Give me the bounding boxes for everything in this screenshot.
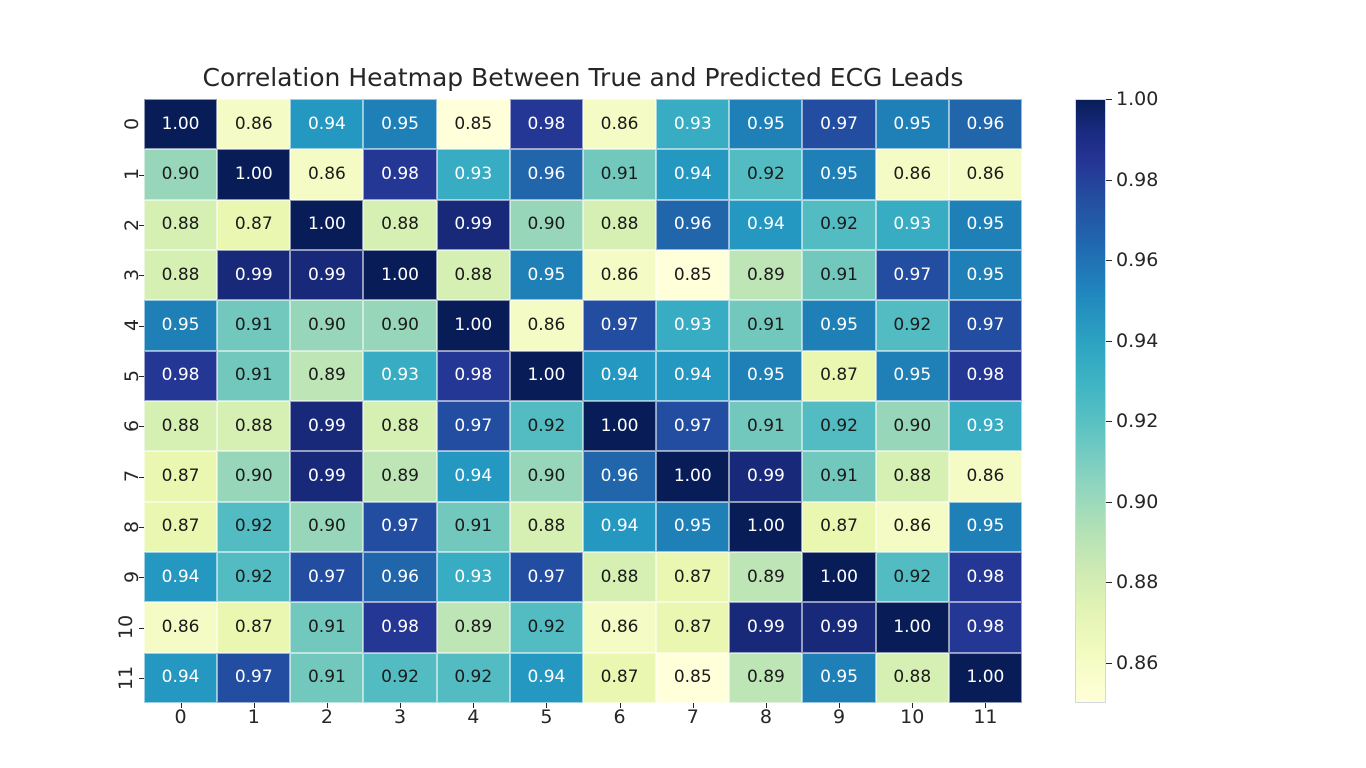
- heatmap-cell: 0.97: [949, 300, 1022, 350]
- colorbar-tick-label: 0.96: [1116, 249, 1158, 271]
- cell-value: 0.90: [235, 468, 273, 485]
- x-axis-tick-labels: 01234567891011: [144, 706, 1022, 734]
- cell-value: 0.97: [454, 418, 492, 435]
- cell-value: 0.93: [454, 166, 492, 183]
- cell-value: 0.87: [674, 619, 712, 636]
- heatmap-cell: 0.94: [583, 502, 656, 552]
- cell-value: 0.99: [308, 418, 346, 435]
- heatmap-cell: 0.86: [949, 451, 1022, 501]
- cell-value: 0.88: [893, 468, 931, 485]
- cell-value: 0.99: [747, 619, 785, 636]
- x-tick-mark: [181, 703, 182, 708]
- x-tick-mark: [546, 703, 547, 708]
- heatmap-cell: 0.95: [729, 351, 802, 401]
- heatmap-cell: 1.00: [363, 250, 436, 300]
- cell-value: 0.98: [162, 367, 200, 384]
- heatmap-cell: 0.85: [656, 653, 729, 703]
- y-tick-label: 4: [108, 300, 138, 350]
- y-tick-label: 8: [108, 502, 138, 552]
- cell-value: 0.88: [893, 669, 931, 686]
- y-tick-mark: [139, 175, 144, 176]
- heatmap-cell: 0.97: [583, 300, 656, 350]
- page-title: Correlation Heatmap Between True and Pre…: [144, 63, 1022, 92]
- y-tick-label: 0: [108, 99, 138, 149]
- heatmap-cell: 0.87: [217, 602, 290, 652]
- cell-value: 0.87: [674, 569, 712, 586]
- cell-value: 0.91: [820, 468, 858, 485]
- heatmap-cell: 0.94: [437, 451, 510, 501]
- heatmap-cell: 0.91: [290, 602, 363, 652]
- cell-value: 0.95: [820, 669, 858, 686]
- heatmap-cell: 0.92: [802, 200, 875, 250]
- heatmap-cell: 0.88: [363, 200, 436, 250]
- y-axis-tick-labels: 01234567891011: [108, 99, 138, 703]
- colorbar-tick-label: 1.00: [1116, 88, 1158, 110]
- cell-value: 0.92: [235, 518, 273, 535]
- heatmap-figure: Correlation Heatmap Between True and Pre…: [0, 0, 1366, 768]
- y-tick-mark: [139, 225, 144, 226]
- cell-value: 0.98: [381, 619, 419, 636]
- heatmap-cell: 0.86: [876, 502, 949, 552]
- cell-value: 0.95: [966, 267, 1004, 284]
- heatmap-cell: 0.90: [510, 200, 583, 250]
- cell-value: 0.98: [454, 367, 492, 384]
- cell-value: 1.00: [966, 669, 1004, 686]
- heatmap-cell: 0.92: [510, 401, 583, 451]
- cell-value: 0.87: [601, 669, 639, 686]
- cell-value: 0.89: [454, 619, 492, 636]
- cell-value: 1.00: [308, 216, 346, 233]
- cell-value: 0.88: [381, 418, 419, 435]
- heatmap-cell: 0.95: [656, 502, 729, 552]
- heatmap-cell: 0.94: [144, 552, 217, 602]
- y-tick-mark: [139, 376, 144, 377]
- heatmap-cell: 1.00: [876, 602, 949, 652]
- cell-value: 0.99: [308, 267, 346, 284]
- x-tick-mark: [254, 703, 255, 708]
- cell-value: 1.00: [747, 518, 785, 535]
- heatmap-cell: 0.94: [510, 653, 583, 703]
- cell-value: 0.95: [893, 116, 931, 133]
- heatmap-cell: 0.85: [437, 99, 510, 149]
- heatmap-cell: 0.88: [583, 200, 656, 250]
- cell-value: 0.99: [235, 267, 273, 284]
- x-tick-label: 8: [729, 706, 802, 734]
- cell-value: 0.94: [674, 367, 712, 384]
- cell-value: 0.87: [162, 518, 200, 535]
- y-tick-label: 10: [108, 602, 138, 652]
- x-tick-mark: [620, 703, 621, 708]
- heatmap-cell: 0.92: [217, 502, 290, 552]
- heatmap-cell: 0.97: [802, 99, 875, 149]
- heatmap-cell: 0.88: [510, 502, 583, 552]
- heatmap-cell: 0.86: [290, 149, 363, 199]
- cell-value: 0.97: [820, 116, 858, 133]
- heatmap-cell: 0.95: [802, 300, 875, 350]
- x-tick-label: 5: [510, 706, 583, 734]
- heatmap-cell: 0.92: [510, 602, 583, 652]
- heatmap-cell: 0.98: [949, 602, 1022, 652]
- heatmap-cell: 0.98: [144, 351, 217, 401]
- cell-value: 0.86: [966, 468, 1004, 485]
- heatmap-cell: 0.92: [876, 300, 949, 350]
- y-tick-label: 5: [108, 351, 138, 401]
- cell-value: 0.97: [893, 267, 931, 284]
- cell-value: 0.92: [820, 418, 858, 435]
- cell-value: 0.89: [381, 468, 419, 485]
- colorbar-tick-mark: [1106, 260, 1112, 261]
- heatmap-cell: 0.87: [656, 602, 729, 652]
- heatmap-cell: 0.86: [876, 149, 949, 199]
- cell-value: 0.95: [820, 166, 858, 183]
- cell-value: 0.91: [235, 317, 273, 334]
- colorbar-tick-mark: [1106, 421, 1112, 422]
- cell-value: 1.00: [527, 367, 565, 384]
- cell-value: 0.89: [747, 267, 785, 284]
- cell-value: 0.87: [820, 367, 858, 384]
- cell-value: 0.90: [381, 317, 419, 334]
- heatmap-cell: 0.88: [876, 451, 949, 501]
- heatmap-cell: 0.87: [144, 502, 217, 552]
- cell-value: 0.94: [674, 166, 712, 183]
- x-tick-mark: [327, 703, 328, 708]
- heatmap-cell: 0.88: [583, 552, 656, 602]
- heatmap-cell: 0.88: [437, 250, 510, 300]
- heatmap-cell: 0.90: [510, 451, 583, 501]
- x-tick-label: 3: [363, 706, 436, 734]
- cell-value: 0.97: [308, 569, 346, 586]
- heatmap-cell: 0.91: [729, 401, 802, 451]
- heatmap-cell: 0.91: [802, 451, 875, 501]
- heatmap-cell: 0.96: [363, 552, 436, 602]
- cell-value: 0.86: [601, 267, 639, 284]
- y-tick-label: 1: [108, 149, 138, 199]
- cell-value: 0.97: [235, 669, 273, 686]
- heatmap-cell: 0.94: [144, 653, 217, 703]
- heatmap-cell: 0.99: [217, 250, 290, 300]
- cell-value: 0.90: [893, 418, 931, 435]
- heatmap-cell: 0.98: [437, 351, 510, 401]
- heatmap-cell: 0.88: [876, 653, 949, 703]
- heatmap-cell: 0.86: [583, 99, 656, 149]
- cell-value: 0.94: [454, 468, 492, 485]
- x-tick-label: 1: [217, 706, 290, 734]
- x-tick-label: 4: [437, 706, 510, 734]
- x-tick-label: 11: [949, 706, 1022, 734]
- x-tick-mark: [912, 703, 913, 708]
- heatmap-cell: 0.86: [217, 99, 290, 149]
- cell-value: 0.97: [527, 569, 565, 586]
- cell-value: 0.89: [747, 669, 785, 686]
- heatmap-cell: 0.98: [510, 99, 583, 149]
- cell-value: 0.91: [820, 267, 858, 284]
- heatmap-cell: 0.94: [729, 200, 802, 250]
- cell-value: 0.98: [527, 116, 565, 133]
- heatmap-cell: 0.99: [437, 200, 510, 250]
- cell-value: 0.85: [454, 116, 492, 133]
- cell-value: 0.95: [820, 317, 858, 334]
- heatmap-cell: 0.98: [363, 602, 436, 652]
- cell-value: 0.90: [527, 468, 565, 485]
- cell-value: 0.95: [527, 267, 565, 284]
- cell-value: 0.93: [893, 216, 931, 233]
- cell-value: 0.95: [966, 518, 1004, 535]
- heatmap-cell: 0.99: [290, 401, 363, 451]
- heatmap-cell: 0.87: [583, 653, 656, 703]
- heatmap-cell: 0.91: [802, 250, 875, 300]
- cell-value: 0.87: [820, 518, 858, 535]
- x-tick-label: 0: [144, 706, 217, 734]
- y-tick-label: 9: [108, 552, 138, 602]
- cell-value: 0.91: [601, 166, 639, 183]
- cell-value: 0.91: [454, 518, 492, 535]
- cell-value: 0.86: [308, 166, 346, 183]
- cell-value: 0.92: [454, 669, 492, 686]
- cell-value: 0.91: [747, 418, 785, 435]
- heatmap-cell: 0.88: [144, 401, 217, 451]
- heatmap-cell: 0.86: [583, 250, 656, 300]
- cell-value: 0.97: [601, 317, 639, 334]
- heatmap-cell: 0.91: [290, 653, 363, 703]
- heatmap-cell: 0.97: [876, 250, 949, 300]
- cell-value: 0.97: [381, 518, 419, 535]
- cell-value: 0.96: [527, 166, 565, 183]
- cell-value: 0.86: [527, 317, 565, 334]
- cell-value: 0.86: [893, 518, 931, 535]
- cell-value: 0.98: [966, 619, 1004, 636]
- heatmap-cell: 1.00: [290, 200, 363, 250]
- heatmap-cell: 0.99: [290, 451, 363, 501]
- cell-value: 0.91: [235, 367, 273, 384]
- cell-value: 0.92: [235, 569, 273, 586]
- heatmap-cell: 0.93: [876, 200, 949, 250]
- heatmap-cell: 0.95: [949, 250, 1022, 300]
- heatmap-cell: 0.99: [802, 602, 875, 652]
- cell-value: 0.94: [162, 669, 200, 686]
- heatmap-cell: 1.00: [949, 653, 1022, 703]
- heatmap-cell: 0.92: [729, 149, 802, 199]
- heatmap-cell: 1.00: [510, 351, 583, 401]
- cell-value: 1.00: [674, 468, 712, 485]
- cell-value: 0.94: [601, 367, 639, 384]
- cell-value: 0.86: [601, 619, 639, 636]
- heatmap-cell: 0.86: [583, 602, 656, 652]
- heatmap-cell: 0.93: [656, 300, 729, 350]
- colorbar-tick-mark: [1106, 582, 1112, 583]
- cell-value: 0.95: [381, 116, 419, 133]
- heatmap-cell: 0.93: [437, 552, 510, 602]
- heatmap-cell: 0.89: [437, 602, 510, 652]
- x-tick-mark: [693, 703, 694, 708]
- heatmap-cell: 0.97: [437, 401, 510, 451]
- cell-value: 0.90: [308, 518, 346, 535]
- heatmap-cell: 0.99: [729, 451, 802, 501]
- y-tick-label: 11: [108, 653, 138, 703]
- y-tick-label: 2: [108, 200, 138, 250]
- cell-value: 1.00: [235, 166, 273, 183]
- cell-value: 0.89: [747, 569, 785, 586]
- colorbar-tick-label: 0.90: [1116, 491, 1158, 513]
- heatmap-cell: 0.95: [363, 99, 436, 149]
- cell-value: 1.00: [601, 418, 639, 435]
- x-tick-mark: [400, 703, 401, 708]
- cell-value: 0.88: [235, 418, 273, 435]
- heatmap-cell: 0.95: [802, 653, 875, 703]
- cell-value: 0.96: [601, 468, 639, 485]
- heatmap-cell: 0.91: [217, 300, 290, 350]
- cell-value: 0.94: [162, 569, 200, 586]
- cell-value: 0.95: [747, 116, 785, 133]
- heatmap-cell: 0.91: [437, 502, 510, 552]
- heatmap-cell: 0.96: [949, 99, 1022, 149]
- heatmap-cell: 0.87: [144, 451, 217, 501]
- x-tick-label: 2: [290, 706, 363, 734]
- cell-value: 0.88: [162, 267, 200, 284]
- heatmap-cell: 0.88: [217, 401, 290, 451]
- cell-value: 0.99: [747, 468, 785, 485]
- cell-value: 1.00: [454, 317, 492, 334]
- cell-value: 0.96: [966, 116, 1004, 133]
- cell-value: 0.88: [162, 216, 200, 233]
- x-tick-label: 10: [876, 706, 949, 734]
- heatmap-cell: 0.94: [656, 149, 729, 199]
- heatmap-cell: 1.00: [144, 99, 217, 149]
- heatmap-cell: 0.90: [876, 401, 949, 451]
- heatmap-cell: 0.94: [583, 351, 656, 401]
- cell-value: 0.87: [235, 619, 273, 636]
- heatmap-cell: 0.97: [217, 653, 290, 703]
- heatmap-cell: 0.90: [290, 300, 363, 350]
- heatmap-cell: 1.00: [802, 552, 875, 602]
- cell-value: 0.86: [601, 116, 639, 133]
- heatmap-cell: 0.87: [802, 351, 875, 401]
- y-tick-mark: [139, 275, 144, 276]
- cell-value: 0.99: [820, 619, 858, 636]
- cell-value: 0.86: [966, 166, 1004, 183]
- heatmap-cell: 0.91: [583, 149, 656, 199]
- cell-value: 0.94: [527, 669, 565, 686]
- colorbar-tick-mark: [1106, 663, 1112, 664]
- cell-value: 0.93: [674, 116, 712, 133]
- heatmap-cell: 0.96: [583, 451, 656, 501]
- heatmap-cell: 0.93: [949, 401, 1022, 451]
- heatmap-cell: 0.98: [949, 552, 1022, 602]
- y-tick-mark: [139, 678, 144, 679]
- cell-value: 0.99: [454, 216, 492, 233]
- cell-value: 0.86: [162, 619, 200, 636]
- cell-value: 0.97: [674, 418, 712, 435]
- heatmap-cell: 0.94: [656, 351, 729, 401]
- heatmap-cell: 0.89: [729, 653, 802, 703]
- heatmap-cell: 1.00: [217, 149, 290, 199]
- heatmap-cell: 0.94: [290, 99, 363, 149]
- cell-value: 1.00: [381, 267, 419, 284]
- heatmap-cell: 0.92: [876, 552, 949, 602]
- cell-value: 0.88: [381, 216, 419, 233]
- x-tick-mark: [985, 703, 986, 708]
- colorbar-tick-label: 0.86: [1116, 652, 1158, 674]
- heatmap-cell: 0.92: [217, 552, 290, 602]
- cell-value: 0.95: [674, 518, 712, 535]
- cell-value: 0.87: [162, 468, 200, 485]
- y-tick-mark: [139, 426, 144, 427]
- cell-value: 0.91: [747, 317, 785, 334]
- cell-value: 0.85: [674, 267, 712, 284]
- y-tick-label: 3: [108, 250, 138, 300]
- cell-value: 0.98: [381, 166, 419, 183]
- colorbar-tick-label: 0.88: [1116, 571, 1158, 593]
- cell-value: 0.90: [527, 216, 565, 233]
- cell-value: 0.91: [308, 669, 346, 686]
- heatmap-cell: 1.00: [729, 502, 802, 552]
- heatmap-cell: 0.89: [729, 250, 802, 300]
- heatmap-cell: 0.95: [510, 250, 583, 300]
- heatmap-cell: 0.99: [290, 250, 363, 300]
- heatmap-cell: 0.95: [802, 149, 875, 199]
- heatmap-cell: 0.95: [949, 502, 1022, 552]
- colorbar-tick-mark: [1106, 502, 1112, 503]
- x-tick-mark: [473, 703, 474, 708]
- cell-value: 0.86: [235, 116, 273, 133]
- heatmap-cell: 0.97: [363, 502, 436, 552]
- cell-value: 0.88: [527, 518, 565, 535]
- cell-value: 0.92: [527, 418, 565, 435]
- y-tick-label: 6: [108, 401, 138, 451]
- y-tick-mark: [139, 628, 144, 629]
- heatmap-cell: 0.93: [437, 149, 510, 199]
- heatmap-cell: 0.90: [363, 300, 436, 350]
- x-tick-label: 7: [656, 706, 729, 734]
- cell-value: 1.00: [820, 569, 858, 586]
- heatmap-cell: 0.88: [144, 250, 217, 300]
- cell-value: 0.98: [966, 569, 1004, 586]
- heatmap-cell: 0.98: [363, 149, 436, 199]
- cell-value: 0.86: [893, 166, 931, 183]
- cell-value: 0.96: [674, 216, 712, 233]
- cell-value: 0.85: [674, 669, 712, 686]
- heatmap-cell: 0.90: [290, 502, 363, 552]
- x-tick-label: 9: [802, 706, 875, 734]
- x-tick-mark: [839, 703, 840, 708]
- cell-value: 0.93: [966, 418, 1004, 435]
- cell-value: 0.87: [235, 216, 273, 233]
- cell-value: 0.94: [747, 216, 785, 233]
- cell-value: 0.95: [162, 317, 200, 334]
- x-tick-mark: [766, 703, 767, 708]
- heatmap-cell: 0.91: [729, 300, 802, 350]
- heatmap-cell: 0.91: [217, 351, 290, 401]
- cell-value: 0.88: [454, 267, 492, 284]
- cell-value: 0.98: [966, 367, 1004, 384]
- cell-value: 0.96: [381, 569, 419, 586]
- cell-value: 0.93: [381, 367, 419, 384]
- heatmap-cell: 0.86: [510, 300, 583, 350]
- cell-value: 0.89: [308, 367, 346, 384]
- heatmap-cell: 0.89: [290, 351, 363, 401]
- heatmap-cell: 0.92: [363, 653, 436, 703]
- y-tick-mark: [139, 577, 144, 578]
- cell-value: 0.88: [601, 216, 639, 233]
- heatmap-cell: 0.92: [437, 653, 510, 703]
- heatmap-cell: 0.95: [949, 200, 1022, 250]
- cell-value: 1.00: [893, 619, 931, 636]
- cell-value: 0.93: [674, 317, 712, 334]
- heatmap-cell: 0.98: [949, 351, 1022, 401]
- cell-value: 0.91: [308, 619, 346, 636]
- heatmap-cell: 0.95: [876, 351, 949, 401]
- colorbar-tick-mark: [1106, 180, 1112, 181]
- heatmap-cell: 0.86: [949, 149, 1022, 199]
